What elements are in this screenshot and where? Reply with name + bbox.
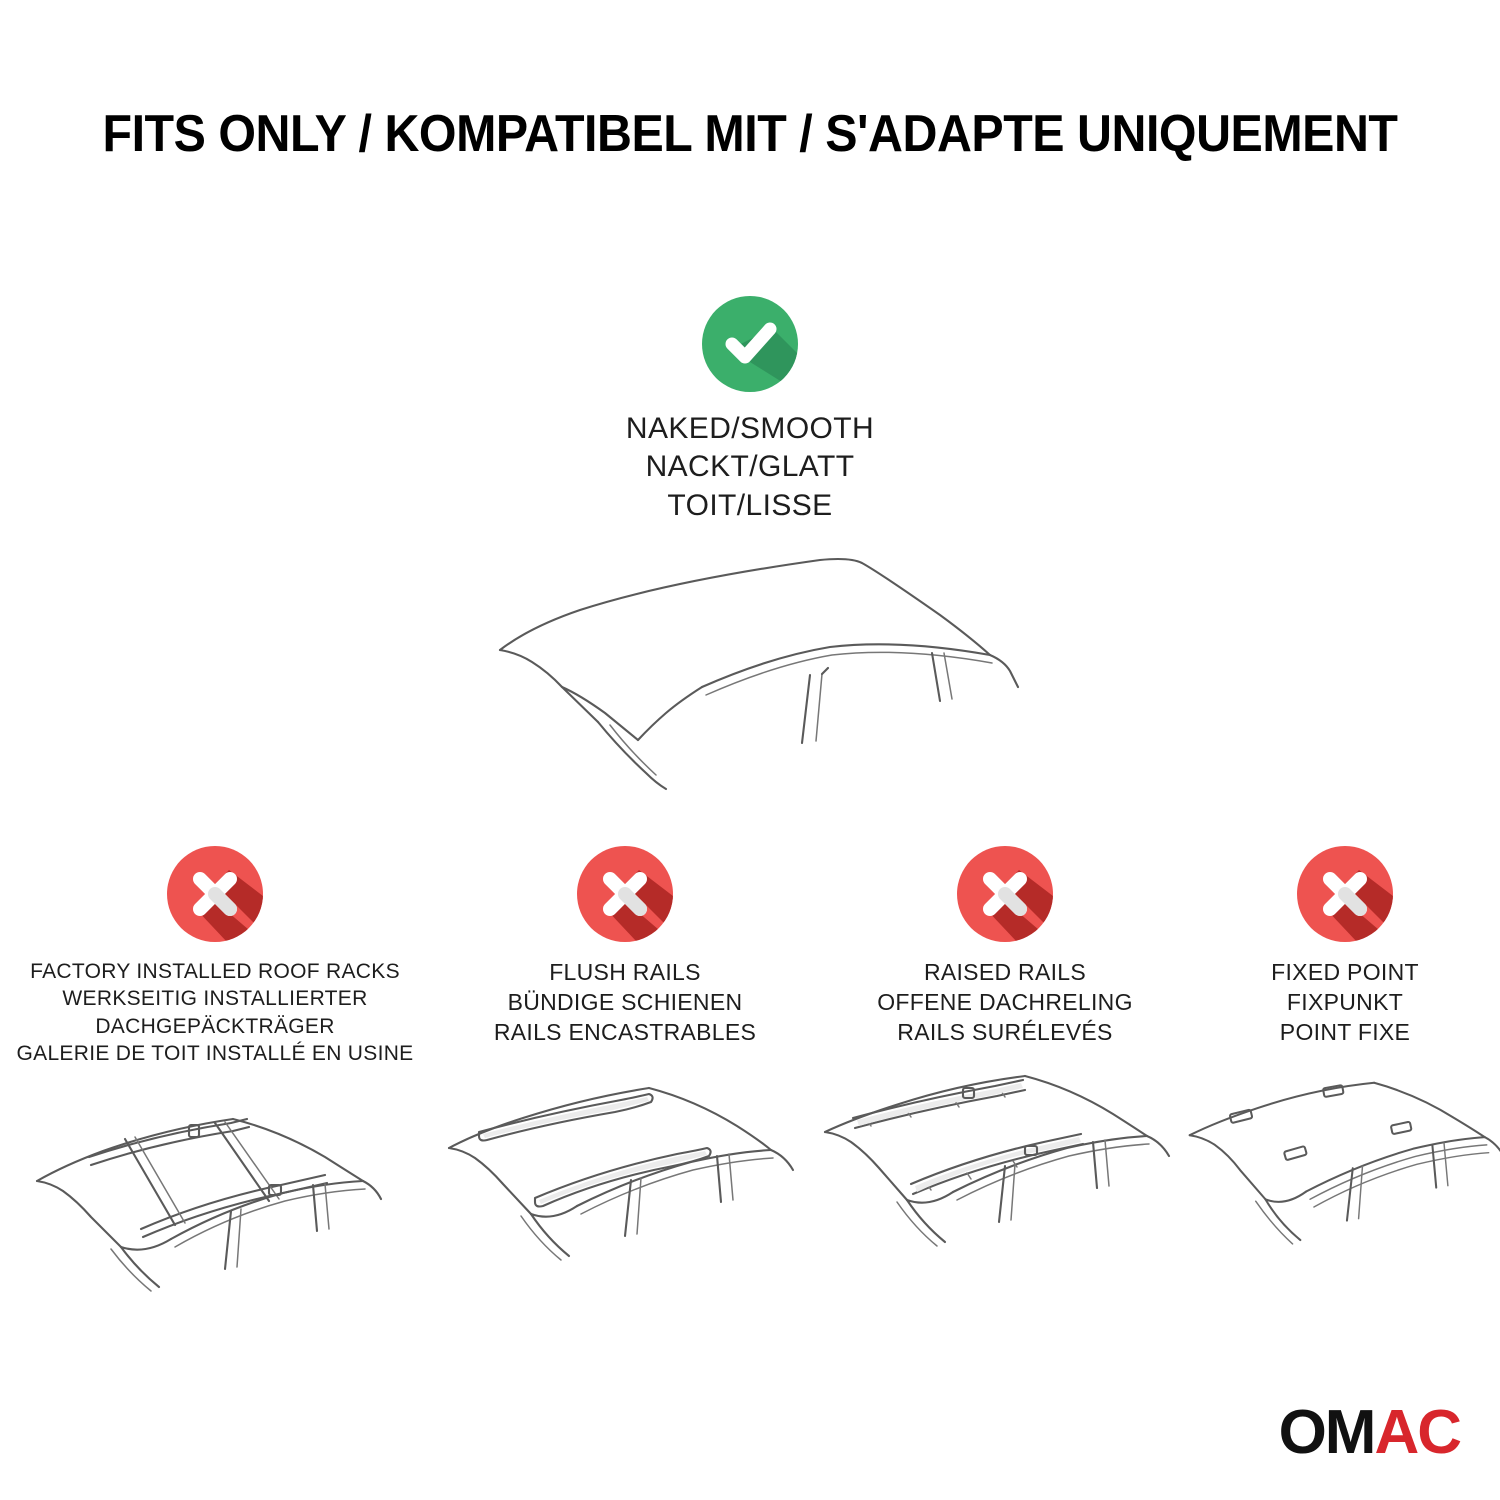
label-line1: FIXED POINT (1271, 958, 1419, 988)
roof-with-crossbars-illustration (25, 1089, 405, 1299)
x-circle-icon (167, 846, 263, 942)
label-line3: RAILS SURÉLEVÉS (877, 1018, 1133, 1048)
incompatible-item-raised-rails: RAISED RAILS OFFENE DACHRELING RAILS SUR… (820, 846, 1190, 1280)
x-icon-svg (577, 846, 673, 942)
x-circle-icon (957, 846, 1053, 942)
check-circle-icon (702, 296, 798, 392)
incompatible-item-factory-roof-racks: FACTORY INSTALLED ROOF RACKS WERKSEITIG … (0, 846, 430, 1299)
smooth-roof-illustration (470, 535, 1030, 805)
fixed-point-roof-illustration (1180, 1070, 1500, 1280)
incompatible-item-flush-rails: FLUSH RAILS BÜNDIGE SCHIENEN RAILS ENCAS… (430, 846, 820, 1280)
label-line1: FLUSH RAILS (494, 958, 756, 988)
omac-logo: OMAC (1279, 1402, 1460, 1464)
label-line3: POINT FIXE (1271, 1018, 1419, 1048)
flush-rails-illustration (435, 1070, 815, 1280)
label-line2: BÜNDIGE SCHIENEN (494, 988, 756, 1018)
label-line1: RAISED RAILS (877, 958, 1133, 988)
compatible-section: NAKED/SMOOTH NACKT/GLATT TOIT/LISSE (0, 296, 1500, 805)
logo-text-red: AC (1374, 1402, 1460, 1464)
incompatible-label-raised-rails: RAISED RAILS OFFENE DACHRELING RAILS SUR… (877, 958, 1133, 1048)
compatible-label-line1: NAKED/SMOOTH (626, 410, 874, 448)
x-icon-svg (167, 846, 263, 942)
incompatible-section: FACTORY INSTALLED ROOF RACKS WERKSEITIG … (0, 846, 1500, 1299)
x-circle-icon (577, 846, 673, 942)
incompatible-label-factory-roof-racks: FACTORY INSTALLED ROOF RACKS WERKSEITIG … (17, 958, 414, 1067)
label-line2: OFFENE DACHRELING (877, 988, 1133, 1018)
x-icon-svg (1297, 846, 1393, 942)
logo-text-dark: OM (1279, 1402, 1375, 1464)
page-title: FITS ONLY / KOMPATIBEL MIT / S'ADAPTE UN… (53, 104, 1448, 164)
label-line3: RAILS ENCASTRABLES (494, 1018, 756, 1048)
x-circle-icon (1297, 846, 1393, 942)
compatible-label-line2: NACKT/GLATT (626, 448, 874, 486)
raised-rails-illustration (815, 1070, 1195, 1280)
incompatible-label-flush-rails: FLUSH RAILS BÜNDIGE SCHIENEN RAILS ENCAS… (494, 958, 756, 1048)
x-icon-svg (957, 846, 1053, 942)
incompatible-label-fixed-point: FIXED POINT FIXPUNKT POINT FIXE (1271, 958, 1419, 1048)
compatible-label-line3: TOIT/LISSE (626, 487, 874, 525)
label-line1: FACTORY INSTALLED ROOF RACKS (17, 958, 414, 985)
check-icon-svg (702, 296, 798, 392)
incompatible-item-fixed-point: FIXED POINT FIXPUNKT POINT FIXE (1190, 846, 1500, 1280)
label-line3: DACHGEPÄCKTRÄGER (17, 1013, 414, 1040)
compatible-label: NAKED/SMOOTH NACKT/GLATT TOIT/LISSE (626, 410, 874, 525)
label-line4: GALERIE DE TOIT INSTALLÉ EN USINE (17, 1040, 414, 1067)
label-line2: FIXPUNKT (1271, 988, 1419, 1018)
label-line2: WERKSEITIG INSTALLIERTER (17, 985, 414, 1012)
